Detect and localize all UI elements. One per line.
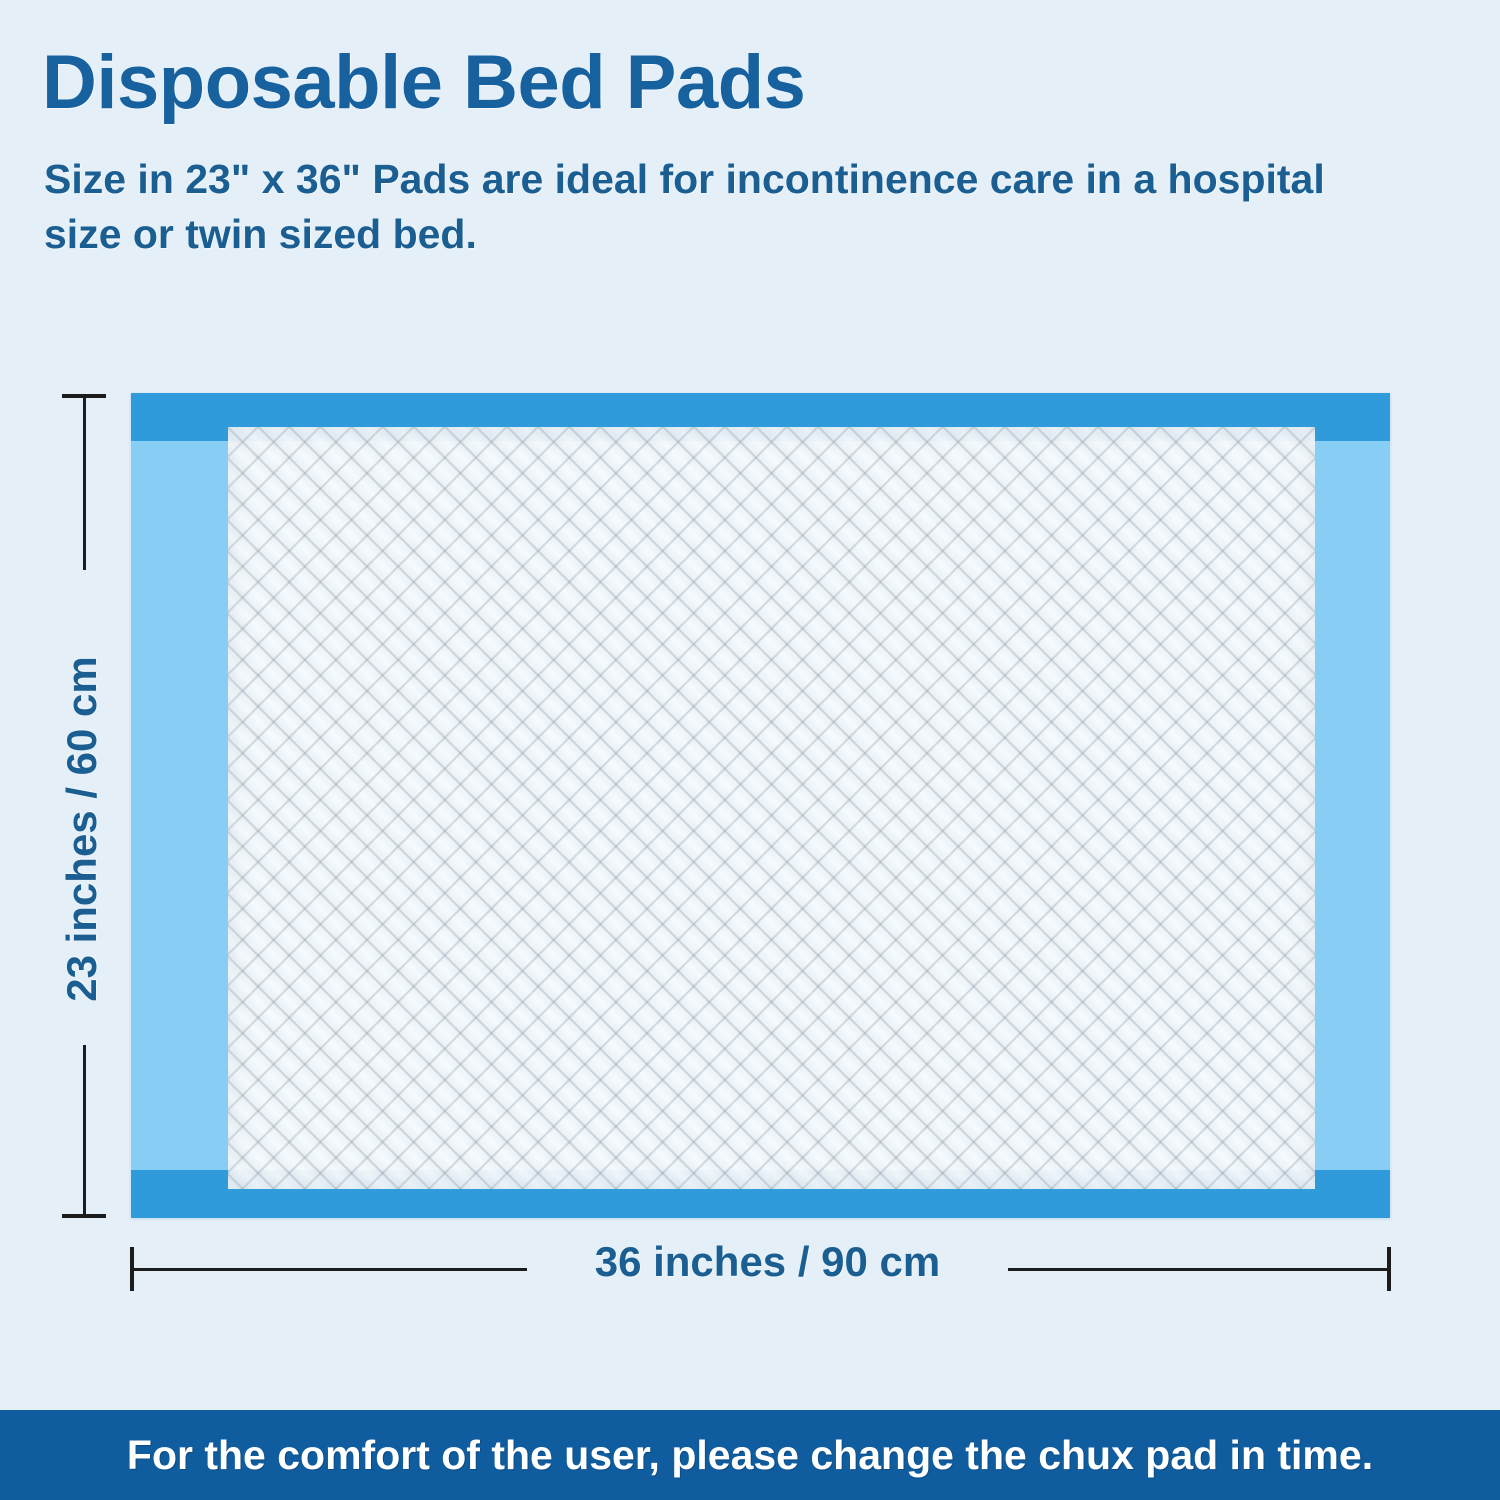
vertical-dimension-label: 23 inches / 60 cm xyxy=(58,449,106,1209)
horizontal-dimension-tick-left xyxy=(130,1247,134,1291)
horizontal-dimension-label: 36 inches / 90 cm xyxy=(527,1238,1008,1286)
horizontal-dimension-tick-right xyxy=(1387,1247,1391,1291)
banner-message: For the comfort of the user, please chan… xyxy=(127,1432,1373,1479)
vertical-dimension-tick-top xyxy=(62,394,106,398)
bed-pad-illustration xyxy=(131,393,1390,1218)
page-title: Disposable Bed Pads xyxy=(42,40,805,126)
pad-quilted-surface xyxy=(228,427,1315,1189)
horizontal-dimension-line-left xyxy=(131,1268,527,1271)
vertical-dimension-tick-bottom xyxy=(62,1214,106,1218)
horizontal-dimension-line-right xyxy=(1008,1268,1390,1271)
page-subtitle: Size in 23" x 36" Pads are ideal for inc… xyxy=(44,152,1334,262)
bottom-banner: For the comfort of the user, please chan… xyxy=(0,1410,1500,1500)
